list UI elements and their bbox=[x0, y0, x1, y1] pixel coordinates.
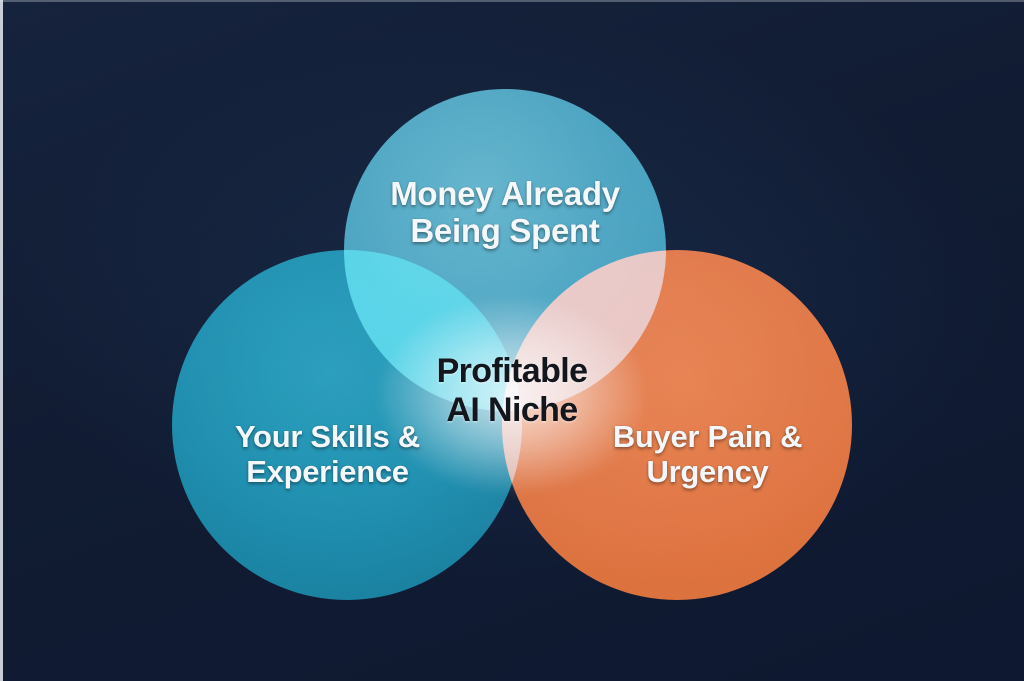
venn-diagram-canvas: Money Already Being Spent Your Skills & … bbox=[0, 0, 1024, 681]
venn-label-money-already-being-spent: Money Already Being Spent bbox=[345, 176, 665, 250]
top-edge-strip bbox=[0, 0, 1024, 2]
venn-label-center-profitable-ai-niche: Profitable AI Niche bbox=[372, 352, 652, 431]
left-edge-strip bbox=[0, 0, 3, 681]
